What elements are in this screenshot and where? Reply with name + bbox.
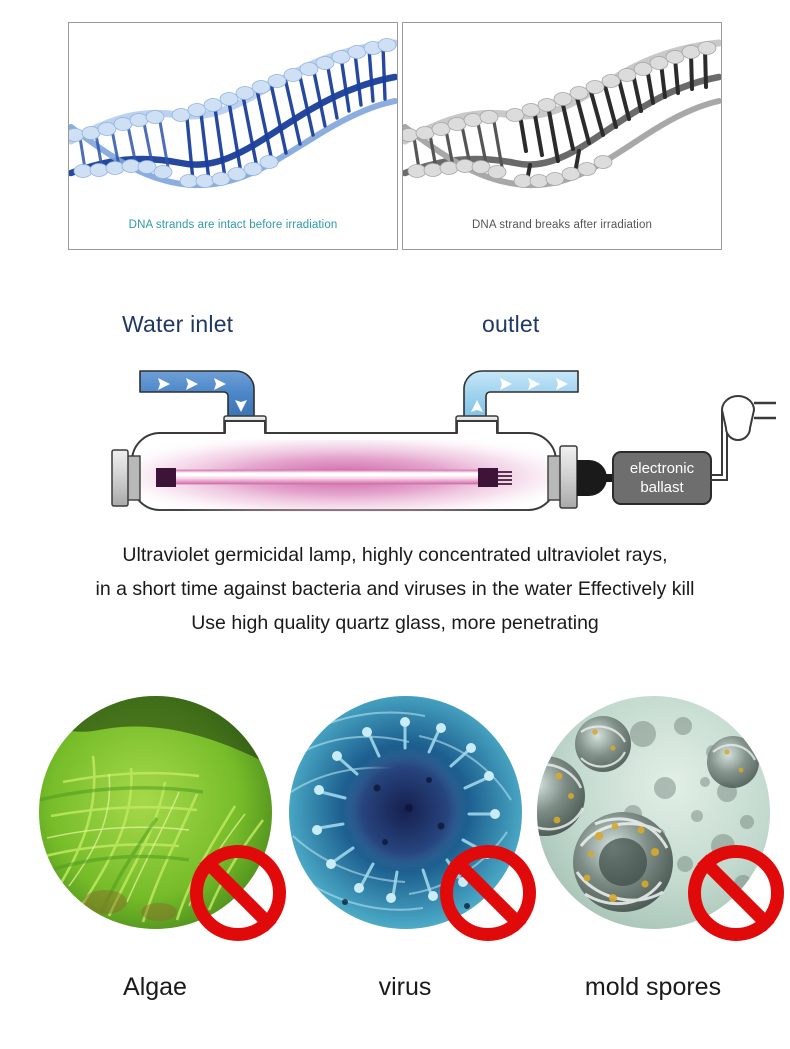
uv-chamber-vessel [132,421,556,512]
threat-label-virus: virus [280,973,530,1002]
product-description: Ultraviolet germicidal lamp, highly conc… [0,538,790,640]
dna-comparison-section: DNA strands are intact before irradiatio… [0,22,790,250]
electronic-ballast: electronic ballast [613,452,711,504]
chamber-end-cap-right [548,446,615,508]
ballast-label-line2: ballast [640,479,684,496]
lamp-cap-left [156,468,176,487]
chamber-end-cap-left [112,450,140,506]
product-infographic: DNA strands are intact before irradiatio… [0,0,790,1049]
dna-helix-broken-illustration [403,23,721,249]
prohibition-icon [688,845,784,941]
dna-caption-intact: DNA strands are intact before irradiatio… [69,219,397,231]
eliminated-threats-section: Algae [0,690,790,1020]
power-plug-icon [722,396,776,440]
threat-label-mold-spores: mold spores [528,973,778,1002]
lamp-socket [577,460,607,496]
prohibition-icon [190,845,286,941]
sterilizer-schematic: electronic ballast [0,348,790,518]
threat-label-algae: Algae [30,973,280,1002]
water-outlet-label: outlet [482,311,539,338]
threat-item-virus: virus [280,690,530,1020]
threat-item-algae: Algae [30,690,280,1020]
uv-sterilizer-diagram: Water inlet outlet [0,308,790,523]
threat-item-mold-spores: mold spores [528,690,778,1020]
lamp-cap-right [478,468,498,487]
dna-caption-broken: DNA strand breaks after irradiation [403,219,721,231]
inlet-pipe [140,371,254,418]
dna-panel-broken: DNA strand breaks after irradiation [402,22,722,250]
description-line-2: in a short time against bacteria and vir… [0,572,790,606]
dna-helix-intact-illustration [69,23,397,249]
uv-lamp-tube [156,468,512,487]
outlet-pipe [464,371,578,418]
ballast-label-line1: electronic [630,460,695,477]
prohibition-icon [440,845,536,941]
spore-cluster-right [707,736,759,788]
spore-cluster-large [573,812,673,912]
description-line-1: Ultraviolet germicidal lamp, highly conc… [0,538,790,572]
spore-cluster-top [575,716,631,772]
dna-panel-intact: DNA strands are intact before irradiatio… [68,22,398,250]
water-inlet-label: Water inlet [122,311,233,338]
description-line-3: Use high quality quartz glass, more pene… [0,606,790,640]
